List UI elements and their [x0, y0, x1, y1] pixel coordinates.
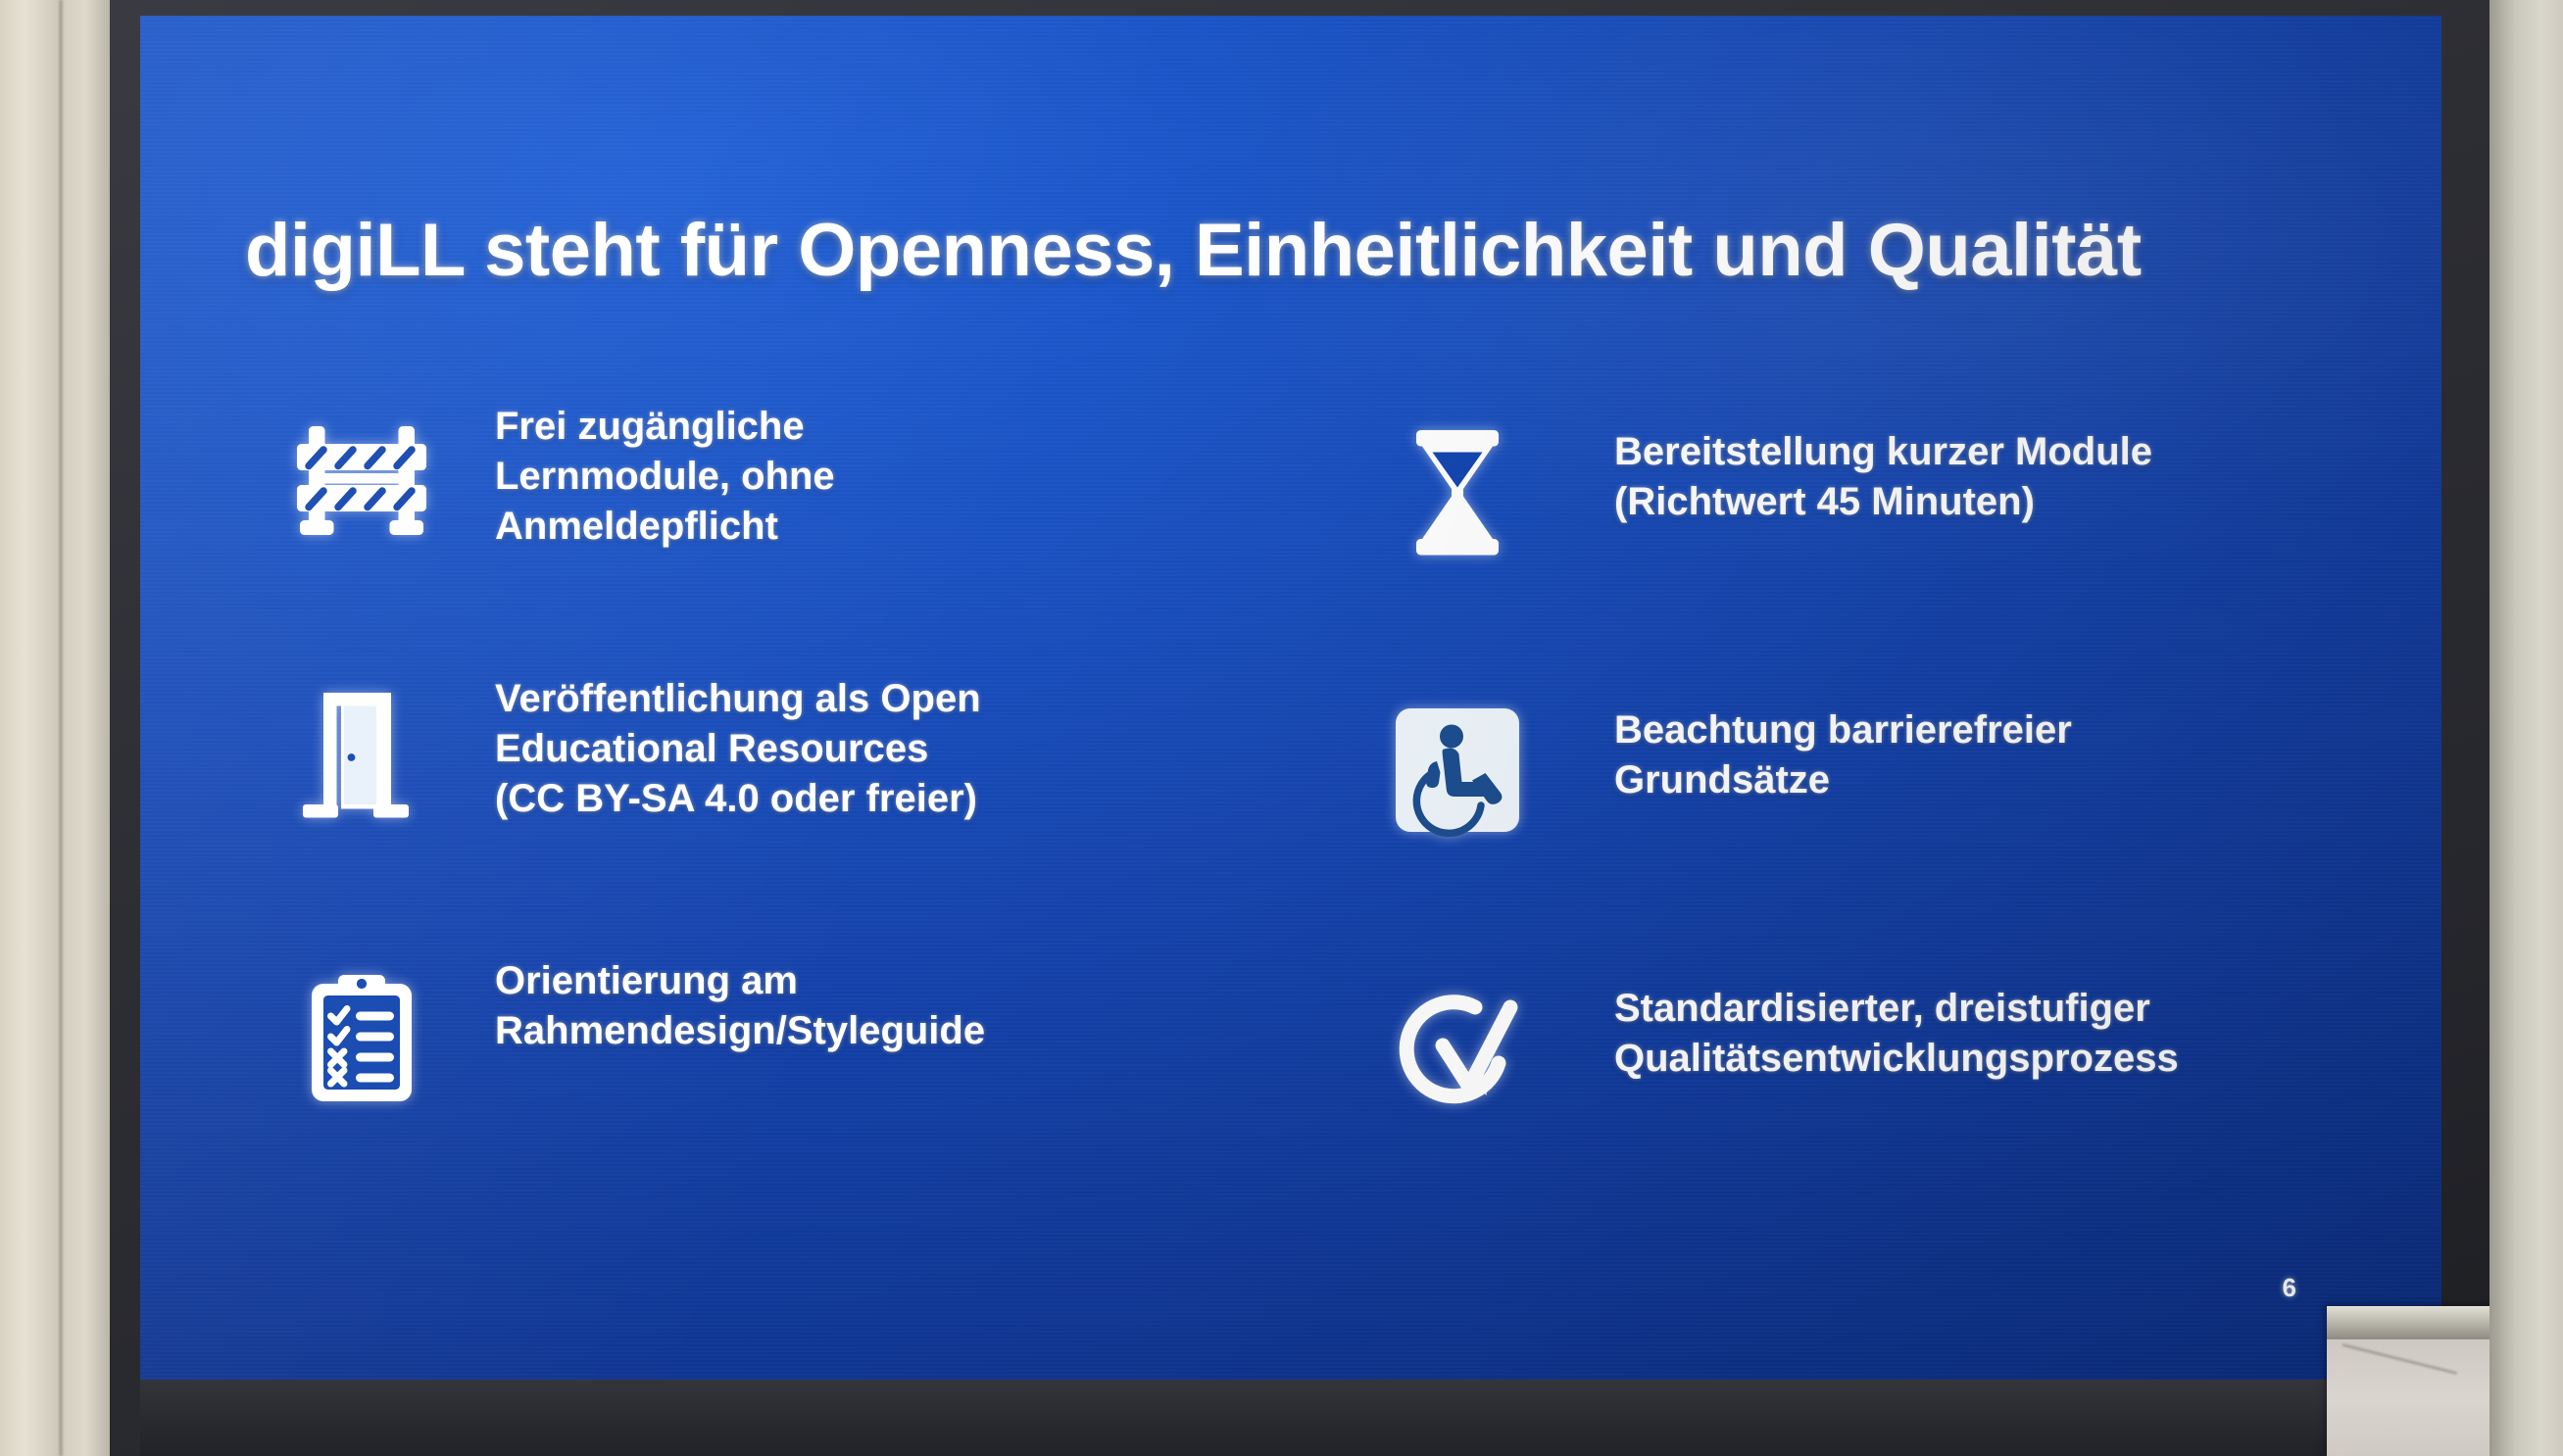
feature-line: (CC BY-SA 4.0 oder freier): [495, 774, 981, 824]
slide-number: 6: [2283, 1273, 2296, 1303]
feature-item: Frei zugängliche Lernmodule, ohne Anmeld…: [234, 396, 1263, 660]
hourglass-icon: [1371, 406, 1544, 578]
feature-grid: Frei zugängliche Lernmodule, ohne Anmeld…: [234, 396, 2371, 1227]
feature-item: Veröffentlichung als Open Educational Re…: [234, 668, 1263, 933]
wall-right: [2489, 0, 2563, 1456]
wall-left: [0, 0, 110, 1456]
feature-text: Beachtung barrierefreier Grundsätze: [1614, 684, 2072, 805]
feature-column-left: Frei zugängliche Lernmodule, ohne Anmeld…: [234, 396, 1263, 1227]
feature-item: Standardisierter, dreistufiger Qualitäts…: [1342, 962, 2371, 1227]
feature-item: Orientierung am Rahmendesign/Styleguide: [234, 950, 1263, 1215]
feature-column-right: Bereitstellung kurzer Module (Richtwert …: [1342, 396, 2371, 1227]
feature-line: Bereitstellung kurzer Module: [1614, 427, 2152, 477]
open-door-icon: [275, 668, 448, 841]
feature-line: Lernmodule, ohne: [495, 452, 835, 502]
feature-line: Rahmendesign/Styleguide: [495, 1006, 985, 1056]
feature-line: (Richtwert 45 Minuten): [1614, 477, 2152, 527]
feature-line: Educational Resources: [495, 724, 981, 774]
feature-line: Orientierung am: [495, 956, 985, 1006]
barrier-icon: [275, 396, 448, 568]
feature-line: Veröffentlichung als Open: [495, 674, 981, 724]
feature-text: Bereitstellung kurzer Module (Richtwert …: [1614, 406, 2152, 527]
feature-line: Frei zugängliche: [495, 402, 835, 452]
feature-line: Grundsätze: [1614, 755, 2072, 805]
cycle-check-icon: [1371, 962, 1544, 1135]
feature-line: Beachtung barrierefreier: [1614, 705, 2072, 755]
feature-item: Beachtung barrierefreier Grundsätze: [1342, 684, 2371, 948]
feature-line: Standardisierter, dreistufiger: [1614, 984, 2179, 1034]
feature-text: Standardisierter, dreistufiger Qualitäts…: [1614, 962, 2179, 1084]
feature-text: Frei zugängliche Lernmodule, ohne Anmeld…: [495, 396, 835, 553]
slide-title: digiLL steht für Openness, Einheitlichke…: [245, 212, 2333, 290]
screen-under-shadow: [140, 1380, 2441, 1456]
projection-scene: digiLL steht für Openness, Einheitlichke…: [0, 0, 2563, 1456]
clipboard-checklist-icon: [275, 950, 448, 1123]
feature-item: Bereitstellung kurzer Module (Richtwert …: [1342, 406, 2371, 670]
paper-fold: [2334, 1343, 2457, 1409]
feature-text: Orientierung am Rahmendesign/Styleguide: [495, 950, 985, 1056]
presentation-slide: digiLL steht für Openness, Einheitlichke…: [140, 16, 2441, 1380]
wheelchair-accessibility-icon: [1371, 684, 1544, 856]
wall-seam: [59, 0, 63, 1456]
feature-text: Veröffentlichung als Open Educational Re…: [495, 668, 981, 825]
feature-line: Anmeldepflicht: [495, 502, 835, 552]
feature-line: Qualitätsentwicklungsprozess: [1614, 1034, 2179, 1084]
